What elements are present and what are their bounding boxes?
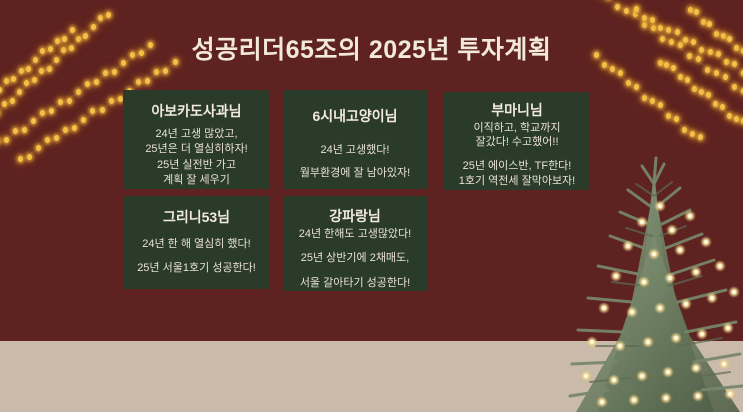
member-card-body: 24년 한해도 고생많았다! 25년 상반기에 2채매도, 서울 갈아타기 성공… bbox=[291, 227, 419, 293]
light-bulb-icon bbox=[54, 135, 59, 141]
light-bulb-icon bbox=[76, 89, 81, 95]
member-card-6si-cat: 6시내고양이님 24년 고생했다! 월부환경에 잘 남아있자! bbox=[283, 90, 427, 189]
member-card-line: 계획 잘 세우기 bbox=[131, 173, 262, 189]
member-card-greeny53: 그리니53님 24년 한 해 열심히 했다! 25년 서울1호기 성공한다! bbox=[123, 196, 270, 289]
poster-canvas: 성공리더65조의 2025년 투자계획 아보카도사과님 24년 고생 많았고, … bbox=[0, 0, 743, 412]
light-bulb-icon bbox=[47, 66, 52, 72]
light-bulb-icon bbox=[685, 77, 690, 83]
light-bulb-icon bbox=[714, 70, 719, 76]
light-bulb-icon bbox=[678, 74, 683, 80]
light-bulb-icon bbox=[674, 116, 679, 122]
light-bulb-icon bbox=[658, 102, 663, 108]
light-bulb-icon bbox=[13, 128, 18, 134]
member-card-gangparang: 강파랑님 24년 한해도 고생많았다! 25년 상반기에 2채매도, 서울 갈아… bbox=[283, 196, 427, 291]
light-bulb-icon bbox=[10, 98, 15, 104]
light-bulb-icon bbox=[705, 67, 710, 73]
light-bulb-icon bbox=[31, 118, 36, 124]
light-bulb-icon bbox=[642, 95, 647, 101]
light-bulb-icon bbox=[666, 113, 671, 119]
light-bulb-icon bbox=[688, 7, 693, 13]
light-bulb-icon bbox=[723, 74, 728, 80]
member-card-line: 25년은 더 열심히하자! bbox=[131, 142, 262, 158]
light-bulb-icon bbox=[67, 98, 72, 104]
page-title: 성공리더65조의 2025년 투자계획 bbox=[0, 30, 743, 66]
light-bulb-icon bbox=[699, 89, 704, 95]
light-bulb-icon bbox=[633, 11, 638, 17]
light-bulb-icon bbox=[694, 9, 699, 15]
light-bulb-icon bbox=[90, 108, 95, 114]
member-card-line: 25년 에이스반, TF한다! bbox=[452, 159, 582, 174]
member-card-line: 24년 한 해 열심히 했다! bbox=[131, 237, 262, 253]
light-bulb-icon bbox=[650, 98, 655, 104]
light-bulb-icon bbox=[154, 69, 159, 75]
light-bulb-icon bbox=[94, 79, 99, 85]
light-bulb-icon bbox=[615, 4, 620, 10]
member-card-line: 24년 고생했다! bbox=[291, 143, 419, 159]
light-bulb-icon bbox=[112, 69, 117, 75]
light-bulb-icon bbox=[713, 101, 718, 107]
member-card-body: 24년 고생했다! 월부환경에 잘 남아있자! bbox=[291, 143, 419, 183]
light-bulb-icon bbox=[610, 66, 615, 72]
member-card-line: 월부환경에 잘 남아있자! bbox=[291, 166, 419, 182]
light-bulb-icon bbox=[85, 81, 90, 87]
member-card-line: 25년 서울1호기 성공한다! bbox=[131, 261, 262, 277]
member-card-name: 강파랑님 bbox=[329, 208, 381, 226]
light-bulb-icon bbox=[22, 127, 27, 133]
light-bulb-icon bbox=[100, 107, 105, 113]
light-bulb-icon bbox=[732, 84, 737, 90]
member-card-line: 24년 한해도 고생많았다! bbox=[291, 227, 419, 243]
member-card-name: 그리니53님 bbox=[163, 209, 230, 227]
light-bulb-icon bbox=[49, 108, 54, 114]
christmas-tree bbox=[568, 150, 743, 412]
light-bulb-icon bbox=[682, 127, 687, 133]
light-bulb-icon bbox=[626, 80, 631, 86]
light-bulb-icon bbox=[32, 77, 37, 83]
light-bulb-icon bbox=[634, 84, 639, 90]
light-bulb-icon bbox=[4, 137, 9, 143]
light-bulb-icon bbox=[18, 156, 23, 162]
light-bulb-icon bbox=[642, 15, 647, 21]
light-bulb-icon bbox=[727, 113, 732, 119]
light-bulb-icon bbox=[72, 125, 77, 131]
light-bulb-icon bbox=[17, 89, 22, 95]
light-bulb-icon bbox=[618, 70, 623, 76]
member-card-line: 25년 실전반 가고 bbox=[131, 158, 262, 174]
light-bulb-icon bbox=[19, 68, 24, 74]
light-bulb-icon bbox=[720, 104, 725, 110]
member-card-body: 이직하고, 학교까지 잘갔다! 수고했어!! 25년 에이스반, TF한다! 1… bbox=[452, 121, 582, 189]
light-bulb-icon bbox=[0, 87, 2, 93]
light-bulb-icon bbox=[26, 66, 31, 72]
light-bulb-icon bbox=[692, 86, 697, 92]
member-card-name: 아보카도사과님 bbox=[151, 103, 241, 121]
light-bulb-icon bbox=[58, 99, 63, 105]
light-strand-wire bbox=[659, 60, 743, 125]
light-bulb-icon bbox=[701, 19, 706, 25]
light-strand-wire bbox=[595, 56, 700, 141]
light-bulb-icon bbox=[63, 127, 68, 133]
member-card-avocado-apple: 아보카도사과님 24년 고생 많았고, 25년은 더 열심히하자! 25년 실전… bbox=[123, 90, 270, 189]
light-bulb-icon bbox=[734, 116, 739, 122]
member-card-line: 서울 갈아타기 성공한다! bbox=[291, 276, 419, 292]
member-card-line: 잘갔다! 수고했어!! bbox=[452, 135, 582, 150]
member-card-body: 24년 고생 많았고, 25년은 더 열심히하자! 25년 실전반 가고 계획 … bbox=[131, 127, 262, 189]
light-bulb-icon bbox=[706, 92, 711, 98]
light-bulb-icon bbox=[36, 145, 41, 151]
light-bulb-icon bbox=[634, 6, 639, 12]
light-bulb-icon bbox=[698, 134, 703, 140]
light-bulb-icon bbox=[163, 68, 168, 74]
light-bulb-icon bbox=[4, 78, 9, 84]
light-bulb-icon bbox=[106, 12, 111, 18]
light-bulb-icon bbox=[40, 110, 45, 116]
light-bulb-icon bbox=[103, 70, 108, 76]
light-bulb-icon bbox=[145, 78, 150, 84]
member-card-name: 6시내고양이님 bbox=[312, 108, 397, 126]
light-bulb-icon bbox=[650, 17, 655, 23]
light-bulb-icon bbox=[39, 68, 44, 74]
light-bulb-icon bbox=[2, 101, 7, 107]
light-bulb-icon bbox=[11, 76, 16, 82]
member-card-line: 25년 상반기에 2채매도, bbox=[291, 251, 419, 267]
member-card-body: 24년 한 해 열심히 했다! 25년 서울1호기 성공한다! bbox=[131, 237, 262, 278]
light-bulb-icon bbox=[642, 22, 647, 28]
light-bulb-icon bbox=[690, 131, 695, 137]
light-bulb-icon bbox=[109, 98, 114, 104]
member-card-line: 24년 고생 많았고, bbox=[131, 127, 262, 143]
member-card-name: 부마니님 bbox=[491, 102, 543, 120]
light-bulb-icon bbox=[624, 8, 629, 14]
light-bulb-icon bbox=[45, 137, 50, 143]
light-bulb-icon bbox=[98, 15, 103, 21]
light-bulb-icon bbox=[24, 80, 29, 86]
member-card-line: 1호기 역전세 잘막아보자! bbox=[452, 174, 582, 189]
light-bulb-icon bbox=[707, 21, 712, 27]
light-bulb-icon bbox=[136, 79, 141, 85]
light-bulb-icon bbox=[27, 154, 32, 160]
light-bulb-icon bbox=[81, 117, 86, 123]
member-card-line: 이직하고, 학교까지 bbox=[452, 121, 582, 136]
